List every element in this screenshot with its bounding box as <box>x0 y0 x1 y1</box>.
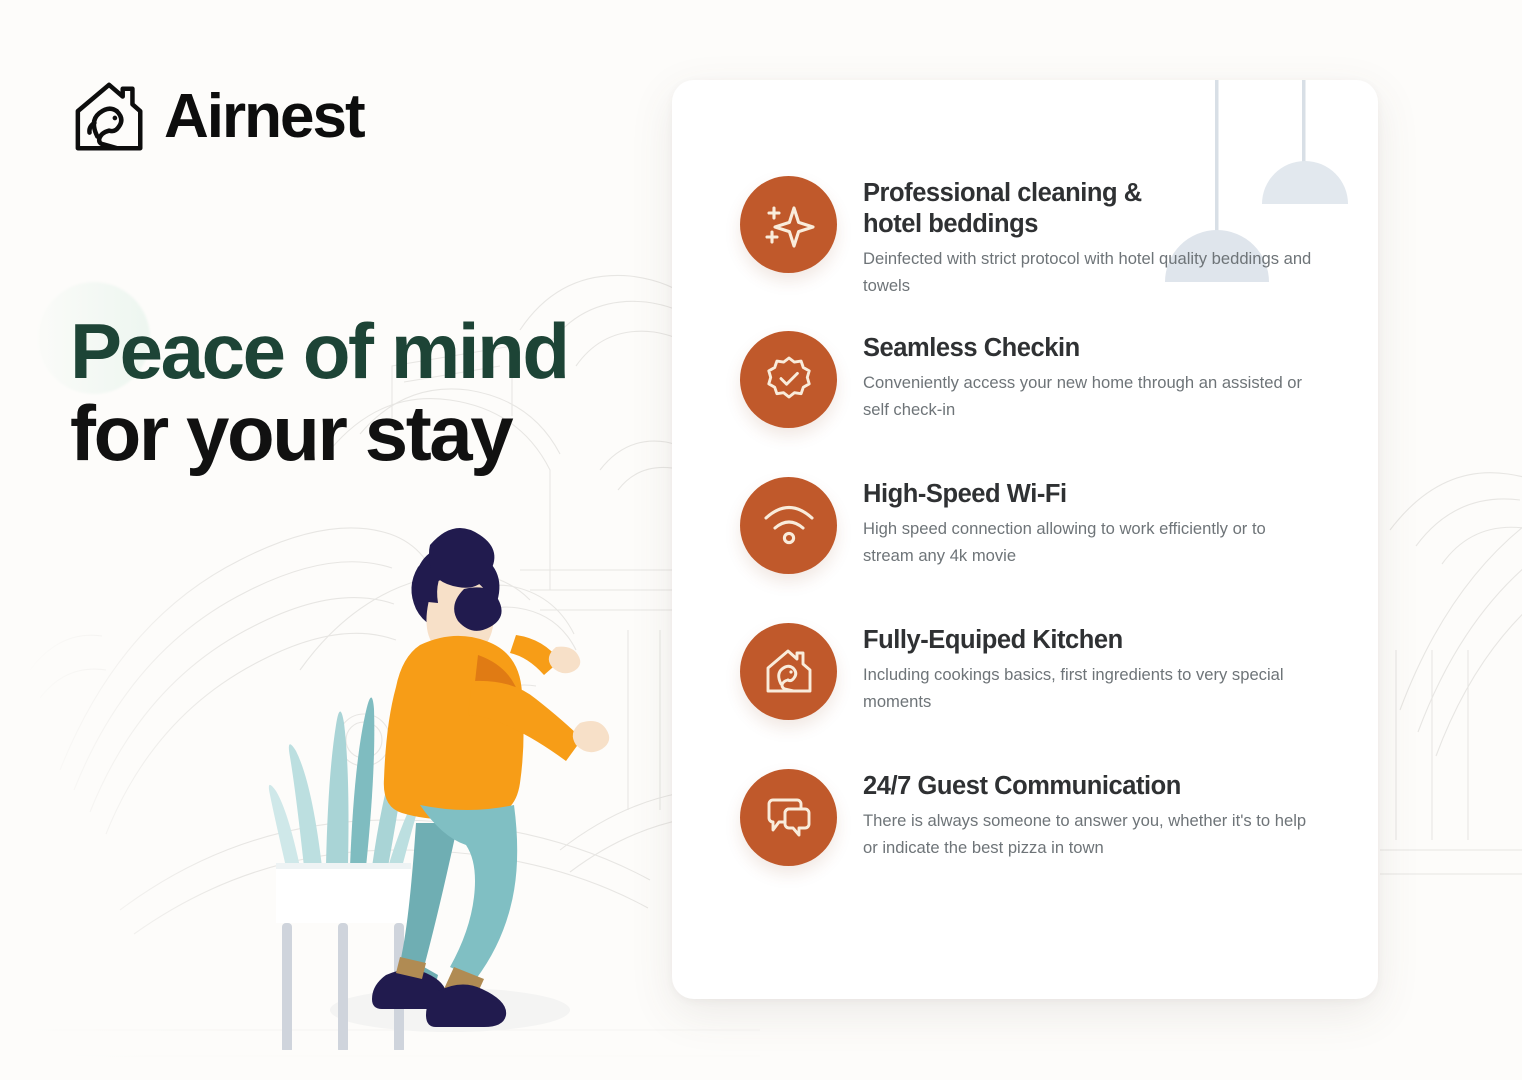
feature-item-checkin[interactable]: Seamless Checkin Conveniently access you… <box>672 328 1378 428</box>
feature-list: Professional cleaning & hotel beddings D… <box>672 80 1378 866</box>
feature-description: Conveniently access your new home throug… <box>863 370 1315 424</box>
feature-item-communication[interactable]: 24/7 Guest Communication There is always… <box>672 766 1378 866</box>
verified-badge-check-icon <box>740 331 837 428</box>
headline-line-2: for your stay <box>70 394 568 474</box>
feature-item-cleaning[interactable]: Professional cleaning & hotel beddings D… <box>672 173 1378 300</box>
wifi-icon <box>740 477 837 574</box>
woman-walking-illustration <box>268 505 628 1050</box>
feature-item-wifi[interactable]: High-Speed Wi-Fi High speed connection a… <box>672 474 1378 574</box>
background-fade-left <box>0 0 240 1080</box>
feature-description: There is always someone to answer you, w… <box>863 808 1315 862</box>
feature-title: Seamless Checkin <box>863 333 1315 364</box>
feature-title: High-Speed Wi-Fi <box>863 479 1315 510</box>
feature-title: Fully-Equiped Kitchen <box>863 625 1315 656</box>
feature-title: Professional cleaning & hotel beddings <box>863 178 1315 240</box>
house-nest-bird-icon <box>72 78 150 156</box>
features-card: Professional cleaning & hotel beddings D… <box>672 80 1378 999</box>
feature-item-kitchen[interactable]: Fully-Equiped Kitchen Including cookings… <box>672 620 1378 720</box>
chat-bubbles-icon <box>740 769 837 866</box>
feature-description: High speed connection allowing to work e… <box>863 516 1315 570</box>
brand-name: Airnest <box>164 86 364 148</box>
house-nest-icon <box>740 623 837 720</box>
headline-line-1: Peace of mind <box>70 312 568 392</box>
page-title: Peace of mind for your stay <box>70 312 568 473</box>
brand-logo[interactable]: Airnest <box>72 78 364 156</box>
feature-description: Deinfected with strict protocol with hot… <box>863 246 1315 300</box>
feature-description: Including cookings basics, first ingredi… <box>863 662 1315 716</box>
feature-title: 24/7 Guest Communication <box>863 771 1315 802</box>
sparkle-icon <box>740 176 837 273</box>
